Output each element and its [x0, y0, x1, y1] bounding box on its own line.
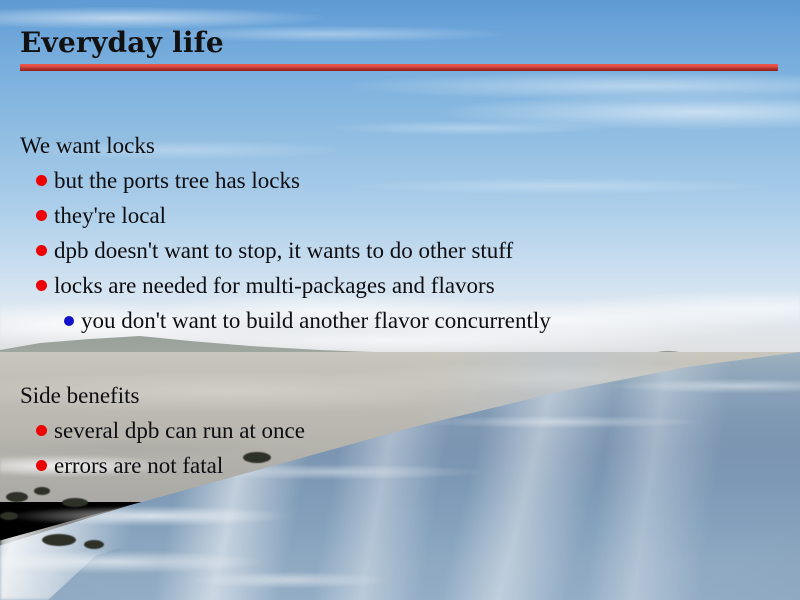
list-item: they're local — [0, 198, 800, 233]
slide-title: Everyday life — [20, 26, 224, 60]
section-heading: We want locks — [0, 128, 800, 163]
title-underline-rule — [20, 64, 778, 71]
sub-list-item: you don't want to build another flavor c… — [0, 303, 800, 338]
list-item-label: they're local — [54, 198, 166, 233]
list-item-label: but the ports tree has locks — [54, 163, 300, 198]
list-item: dpb doesn't want to stop, it wants to do… — [0, 233, 800, 268]
sub-list-item-label: you don't want to build another flavor c… — [81, 303, 551, 338]
section-side-benefits: Side benefits several dpb can run at onc… — [0, 378, 800, 483]
section-heading-text: We want locks — [20, 128, 155, 163]
red-disc-bullet-icon — [36, 460, 47, 471]
presentation-slide: Everyday life We want locks but the port… — [0, 0, 800, 600]
red-disc-bullet-icon — [36, 425, 47, 436]
list-item-label: errors are not fatal — [54, 448, 223, 483]
list-item-label: locks are needed for multi-packages and … — [54, 268, 495, 303]
red-disc-bullet-icon — [36, 280, 47, 291]
section-heading-text: Side benefits — [20, 378, 139, 413]
list-item-label: dpb doesn't want to stop, it wants to do… — [54, 233, 513, 268]
list-item: locks are needed for multi-packages and … — [0, 268, 800, 303]
red-disc-bullet-icon — [36, 245, 47, 256]
blue-disc-bullet-icon — [64, 316, 74, 326]
red-disc-bullet-icon — [36, 175, 47, 186]
red-disc-bullet-icon — [36, 210, 47, 221]
list-item: but the ports tree has locks — [0, 163, 800, 198]
section-heading: Side benefits — [0, 378, 800, 413]
list-item: errors are not fatal — [0, 448, 800, 483]
list-item-label: several dpb can run at once — [54, 413, 305, 448]
section-we-want-locks: We want locks but the ports tree has loc… — [0, 128, 800, 338]
slide-content: Everyday life We want locks but the port… — [0, 0, 800, 600]
list-item: several dpb can run at once — [0, 413, 800, 448]
